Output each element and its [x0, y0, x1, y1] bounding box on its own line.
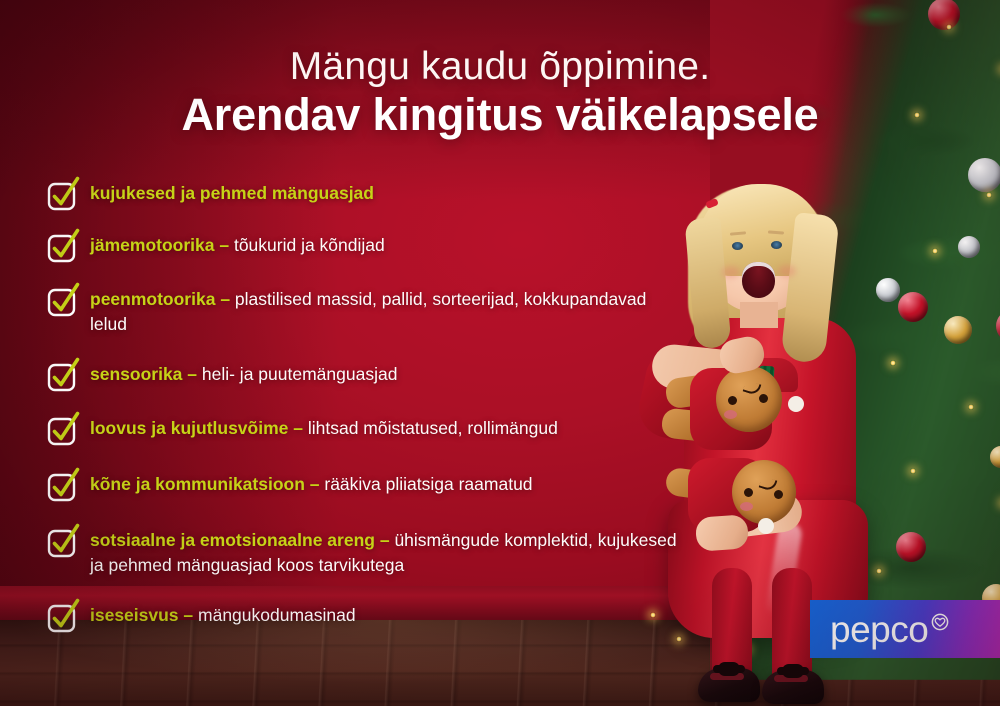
open-smiling-mouth — [742, 262, 775, 298]
checkbox-checked-icon — [46, 228, 80, 264]
list-item: iseseisvus – mängukodumasinad — [46, 598, 686, 634]
checkbox-checked-icon — [46, 176, 80, 212]
list-item-text: sotsiaalne ja emotsionaalne areng – ühis… — [90, 523, 686, 578]
shoe-bow — [782, 664, 804, 678]
checkbox-checked-icon — [46, 523, 80, 559]
plush-blush — [740, 502, 753, 511]
list-item-text: iseseisvus – mängukodumasinad — [90, 598, 686, 628]
neck — [740, 302, 778, 328]
ornament-bauble — [896, 532, 926, 562]
list-item: sensoorika – heli- ja puutemänguasjad — [46, 357, 686, 393]
list-item-detail: rääkiva pliiatsiga raamatud — [324, 474, 532, 494]
cheek-right — [778, 265, 796, 277]
checkbox-checked-icon — [46, 282, 80, 318]
list-item-text: jämemotoorika – tõukurid ja kõndijad — [90, 228, 686, 258]
hand-lower — [695, 514, 749, 552]
list-item-term: loovus ja kujutlusvõime — [90, 418, 288, 438]
checkbox-checked-icon — [46, 357, 80, 393]
fairy-light — [946, 24, 952, 30]
cheek-left — [722, 266, 740, 278]
plush-eye — [774, 490, 783, 499]
plush-eye — [759, 394, 768, 403]
list-item-dash: – — [214, 235, 233, 255]
list-item-dash: – — [179, 605, 198, 625]
benefits-list: kujukesed ja pehmed mänguasjad jämemotoo… — [46, 176, 686, 634]
list-item-term: peenmotoorika — [90, 289, 215, 309]
list-item: sotsiaalne ja emotsionaalne areng – ühis… — [46, 523, 686, 578]
promo-poster: Mängu kaudu õppimine. Arendav kingitus v… — [0, 0, 1000, 706]
eye-right — [771, 241, 782, 249]
ornament-bauble — [968, 158, 1000, 192]
list-item: kõne ja kommunikatsioon – rääkiva pliiat… — [46, 467, 686, 503]
list-item-detail: tõukurid ja kõndijad — [234, 235, 385, 255]
list-item: kujukesed ja pehmed mänguasjad — [46, 176, 686, 212]
ornament-bauble — [958, 236, 980, 258]
list-item-dash: – — [288, 418, 307, 438]
list-item-text: loovus ja kujutlusvõime – lihtsad mõista… — [90, 411, 686, 441]
list-item-detail: mängukodumasinad — [198, 605, 356, 625]
eye-left — [732, 242, 743, 250]
list-item-dash: – — [215, 289, 234, 309]
list-item-term: jämemotoorika — [90, 235, 214, 255]
list-item-text: kujukesed ja pehmed mänguasjad — [90, 176, 686, 206]
shoe-bow — [718, 662, 740, 676]
list-item-text: peenmotoorika – plastilised massid, pall… — [90, 282, 686, 337]
pepco-wordmark: pepco — [830, 611, 928, 648]
list-item-dash: – — [182, 364, 201, 384]
plush-eye — [744, 488, 753, 497]
list-item-text: sensoorika – heli- ja puutemänguasjad — [90, 357, 686, 387]
list-item: peenmotoorika – plastilised massid, pall… — [46, 282, 686, 337]
list-item-term: kujukesed ja pehmed mänguasjad — [90, 183, 374, 203]
plush-head — [732, 460, 796, 524]
fairy-light — [910, 468, 916, 474]
list-item-term: iseseisvus — [90, 605, 179, 625]
list-item-term: sotsiaalne ja emotsionaalne areng — [90, 530, 375, 550]
list-item-text: kõne ja kommunikatsioon – rääkiva pliiat… — [90, 467, 686, 497]
list-item: jämemotoorika – tõukurid ja kõndijad — [46, 228, 686, 264]
fairy-light — [932, 248, 938, 254]
checkbox-checked-icon — [46, 411, 80, 447]
plush-eye — [728, 396, 737, 405]
checkbox-checked-icon — [46, 598, 80, 634]
list-item-dash: – — [305, 474, 324, 494]
list-item-dash: – — [375, 530, 394, 550]
checkbox-checked-icon — [46, 467, 80, 503]
heart-in-circle-icon — [931, 613, 949, 631]
fairy-light — [986, 192, 992, 198]
plush-pompom — [758, 518, 774, 534]
list-item: loovus ja kujutlusvõime – lihtsad mõista… — [46, 411, 686, 447]
list-item-detail: heli- ja puutemänguasjad — [202, 364, 398, 384]
plush-head — [716, 366, 782, 432]
list-item-term: sensoorika — [90, 364, 182, 384]
ornament-bauble — [898, 292, 928, 322]
pepco-logo[interactable]: pepco — [810, 600, 1000, 658]
plush-blush — [724, 410, 737, 419]
ornament-bauble — [944, 316, 972, 344]
list-item-detail: lihtsad mõistatused, rollimängud — [308, 418, 558, 438]
fairy-light — [968, 404, 974, 410]
plush-pompom — [788, 396, 804, 412]
list-item-term: kõne ja kommunikatsioon — [90, 474, 305, 494]
fairy-light — [914, 112, 920, 118]
